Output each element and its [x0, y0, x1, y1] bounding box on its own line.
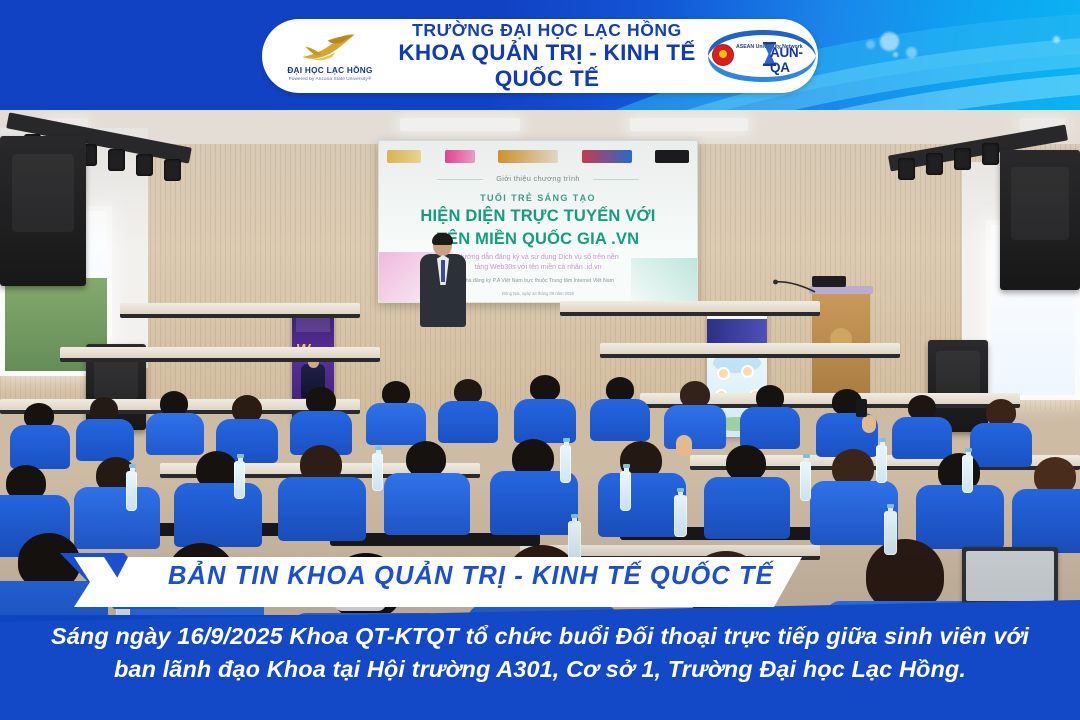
university-name: TRƯỜNG ĐẠI HỌC LẠC HỒNG [394, 20, 700, 41]
photo-shading [0, 110, 1080, 615]
section-ribbon: BẢN TIN KHOA QUẢN TRỊ - KINH TẾ QUỐC TẾ [60, 553, 760, 609]
logo-name: ĐẠI HỌC LẠC HỒNG [287, 66, 372, 75]
news-caption: Sáng ngày 16/9/2025 Khoa QT-KTQT tổ chức… [0, 620, 1080, 687]
header-titles: TRƯỜNG ĐẠI HỌC LẠC HỒNG KHOA QUẢN TRỊ - … [390, 20, 700, 93]
caption-line-1: Sáng ngày 16/9/2025 Khoa QT-KTQT tổ chức… [34, 620, 1046, 653]
header-title-card: ĐẠI HỌC LẠC HỒNG Powered by Arizona Stat… [262, 19, 818, 93]
page-header: ĐẠI HỌC LẠC HỒNG Powered by Arizona Stat… [0, 0, 1080, 110]
aun-qa-logo: ASEAN University Network AUN-QA [700, 28, 818, 84]
caption-line-2: ban lãnh đạo Khoa tại Hội trường A301, C… [34, 653, 1046, 686]
asean-seal-icon [712, 44, 734, 66]
faculty-name: KHOA QUẢN TRỊ - KINH TẾ QUỐC TẾ [394, 40, 700, 92]
ribbon-title: BẢN TIN KHOA QUẢN TRỊ - KINH TẾ QUỐC TẾ [168, 562, 774, 591]
newsletter-poster: ĐẠI HỌC LẠC HỒNG Powered by Arizona Stat… [0, 0, 1080, 720]
bokeh-dot [906, 47, 917, 58]
bokeh-dot [866, 40, 875, 49]
bokeh-dot [1053, 36, 1060, 43]
lac-hong-bird-icon [289, 31, 371, 65]
aun-qa-label: AUN-QA [770, 45, 818, 75]
bokeh-dot [880, 32, 899, 51]
logo-tagline: Powered by Arizona State University® [289, 76, 372, 81]
university-logo: ĐẠI HỌC LẠC HỒNG Powered by Arizona Stat… [262, 31, 390, 81]
bokeh-dot [893, 52, 898, 57]
event-photo: Giới thiệu chương trình TUỔI TRẺ SÁNG TẠ… [0, 110, 1080, 615]
